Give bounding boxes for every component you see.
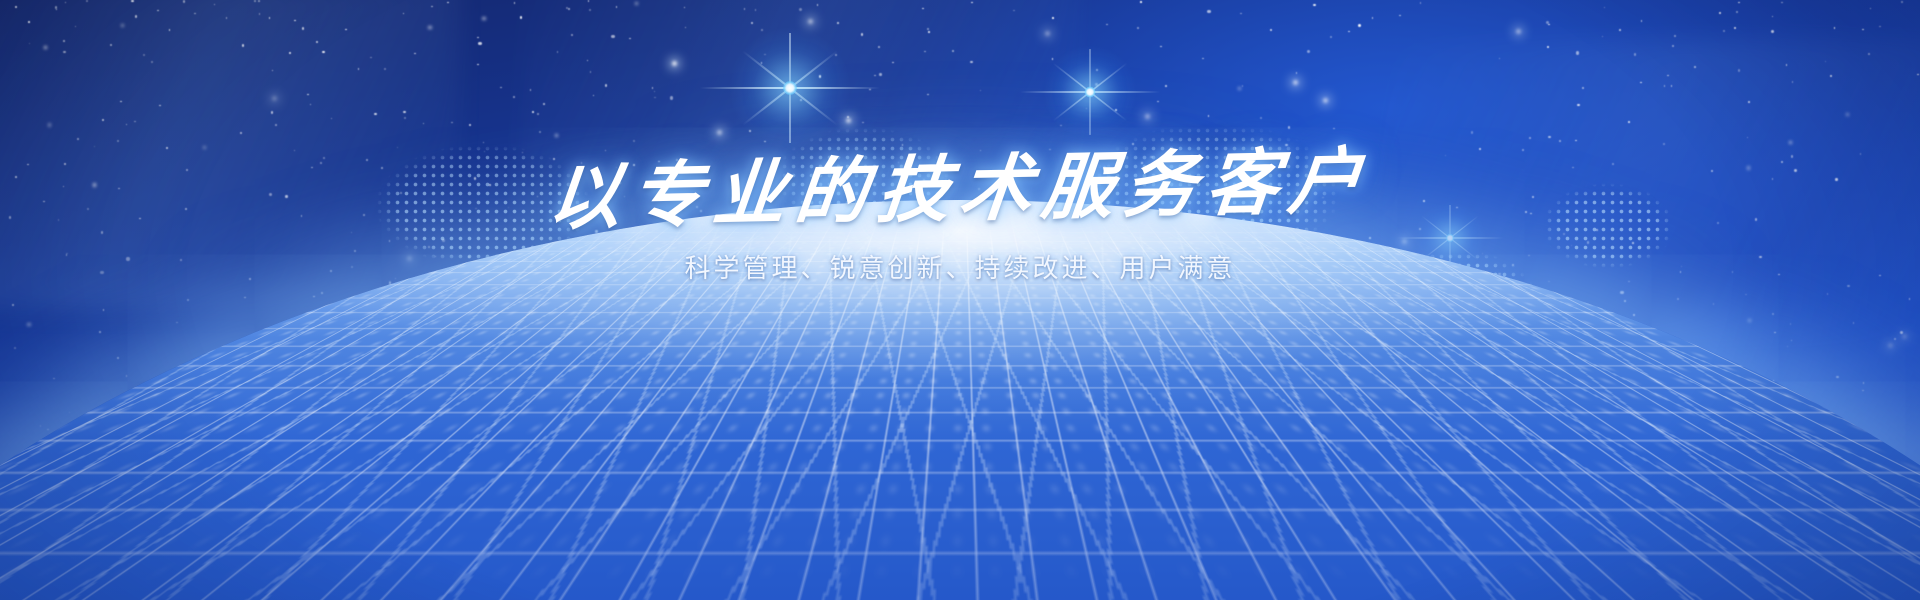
star — [1547, 46, 1549, 48]
star — [1115, 109, 1117, 111]
star — [322, 51, 324, 53]
star — [543, 103, 545, 105]
star — [403, 13, 405, 15]
star — [869, 89, 871, 91]
star — [922, 8, 924, 10]
star — [530, 89, 532, 91]
star — [539, 131, 541, 133]
star — [110, 44, 112, 46]
banner-headline: 以专业的技术服务客户 — [0, 130, 1920, 248]
star — [102, 119, 104, 121]
star — [927, 28, 929, 30]
star — [1160, 46, 1162, 48]
star — [755, 9, 757, 11]
star — [1917, 74, 1919, 76]
star — [566, 7, 568, 9]
star — [500, 87, 502, 89]
star — [1052, 17, 1054, 19]
star — [226, 17, 228, 19]
star — [478, 42, 481, 45]
star — [817, 4, 819, 6]
star — [568, 8, 570, 10]
star — [194, 13, 196, 15]
star — [761, 29, 763, 31]
star — [593, 95, 595, 97]
star — [1260, 117, 1262, 119]
star — [1330, 36, 1332, 38]
star — [1013, 10, 1015, 12]
star — [77, 138, 79, 140]
star — [1242, 85, 1244, 87]
star — [684, 7, 686, 9]
star — [151, 61, 153, 63]
star — [761, 62, 763, 64]
star — [126, 124, 128, 126]
star — [837, 22, 839, 24]
star — [1825, 61, 1827, 63]
star — [1307, 50, 1310, 53]
star — [1420, 2, 1422, 4]
star — [203, 146, 206, 149]
star — [654, 91, 656, 93]
star — [414, 53, 416, 55]
star — [1862, 29, 1864, 31]
star — [571, 34, 573, 36]
star — [1576, 51, 1579, 54]
star — [477, 37, 479, 39]
star — [635, 2, 638, 5]
star — [1671, 85, 1673, 87]
star — [316, 41, 318, 43]
star — [447, 2, 449, 4]
star — [157, 10, 159, 12]
star — [272, 70, 274, 72]
star — [358, 68, 360, 70]
star — [611, 35, 614, 38]
star — [370, 57, 372, 59]
star — [269, 17, 271, 19]
star — [131, 0, 133, 2]
star — [555, 134, 558, 137]
star — [633, 140, 635, 142]
star — [63, 40, 65, 42]
star — [1602, 36, 1604, 38]
star — [878, 46, 880, 48]
star — [861, 33, 863, 35]
star — [1096, 69, 1098, 71]
star — [159, 105, 161, 107]
star — [1667, 75, 1669, 77]
star — [271, 111, 273, 113]
hero-banner: 以专业的技术服务客户 科学管理、锐意创新、持续改进、用户满意 — [0, 0, 1920, 600]
star — [1834, 27, 1836, 29]
star — [65, 2, 67, 4]
star — [1738, 69, 1740, 71]
star — [1694, 66, 1696, 68]
star — [240, 132, 242, 134]
star — [749, 130, 751, 132]
star — [1879, 26, 1881, 28]
star — [1399, 15, 1401, 17]
star — [403, 111, 405, 113]
star — [258, 0, 260, 2]
star — [1604, 7, 1606, 9]
star — [451, 122, 453, 124]
star — [183, 0, 185, 2]
star — [294, 20, 296, 22]
star — [557, 51, 559, 53]
star — [799, 8, 802, 11]
star — [1628, 121, 1630, 123]
star — [1736, 11, 1738, 13]
star — [537, 113, 539, 115]
star — [272, 96, 277, 101]
star — [847, 116, 849, 118]
star — [1348, 31, 1350, 33]
star — [1641, 20, 1643, 22]
star — [75, 26, 77, 28]
star — [166, 147, 168, 149]
star — [1870, 8, 1872, 10]
star — [1792, 81, 1794, 83]
star — [590, 71, 592, 73]
star — [1582, 87, 1584, 89]
star — [1157, 101, 1159, 103]
star — [1323, 98, 1328, 103]
star — [1640, 82, 1642, 84]
star — [1140, 1, 1142, 3]
star — [1045, 31, 1050, 36]
star — [117, 140, 119, 142]
star — [1499, 58, 1501, 60]
star — [1313, 4, 1315, 6]
star — [1516, 29, 1521, 34]
star — [928, 31, 930, 33]
star — [1846, 113, 1849, 116]
star — [1471, 131, 1473, 133]
star — [605, 84, 607, 86]
star — [588, 0, 590, 2]
star — [971, 2, 973, 4]
star — [259, 13, 261, 15]
star — [1106, 24, 1108, 26]
star — [1202, 58, 1204, 60]
star — [874, 75, 876, 77]
star — [1293, 80, 1298, 85]
star — [835, 54, 837, 56]
star — [520, 16, 522, 18]
star — [927, 94, 929, 96]
star — [404, 117, 406, 119]
star — [808, 19, 813, 24]
star — [1208, 115, 1210, 117]
star — [63, 51, 65, 53]
star — [862, 122, 864, 124]
star — [242, 44, 244, 46]
star — [345, 29, 347, 31]
star — [469, 124, 471, 126]
star — [121, 24, 124, 27]
star — [1372, 17, 1374, 19]
star — [629, 38, 631, 40]
star — [169, 29, 171, 31]
star — [1830, 75, 1832, 77]
star — [1207, 10, 1210, 13]
star — [310, 104, 312, 106]
star — [1548, 24, 1550, 26]
star — [800, 99, 802, 101]
star — [254, 0, 256, 2]
star — [1358, 24, 1361, 27]
star — [1674, 35, 1676, 37]
star — [1901, 1, 1903, 3]
star — [892, 62, 894, 64]
star — [302, 27, 304, 29]
star — [134, 121, 136, 123]
star — [428, 26, 431, 29]
star — [143, 54, 145, 56]
star — [15, 6, 17, 8]
star — [1619, 29, 1621, 31]
star — [532, 111, 534, 113]
star — [1577, 104, 1579, 106]
banner-text-block: 以专业的技术服务客户 科学管理、锐意创新、持续改进、用户满意 — [0, 150, 1920, 286]
star — [135, 15, 137, 17]
star — [423, 123, 425, 125]
star — [879, 73, 881, 75]
star — [952, 50, 954, 52]
star — [1240, 13, 1242, 15]
star — [1723, 30, 1725, 32]
star — [924, 51, 926, 53]
star — [56, 9, 58, 11]
star — [1095, 83, 1097, 85]
star — [970, 61, 972, 63]
star — [1060, 125, 1062, 127]
star — [751, 22, 753, 24]
star — [1546, 21, 1549, 24]
star — [1634, 53, 1636, 55]
star — [120, 101, 122, 103]
star — [1145, 114, 1150, 119]
star — [431, 6, 433, 8]
star — [1664, 85, 1666, 87]
star — [1738, 2, 1740, 4]
star — [1868, 53, 1870, 55]
star — [1771, 30, 1774, 33]
star — [477, 64, 479, 66]
star — [654, 97, 656, 99]
star — [672, 61, 677, 66]
star — [1052, 58, 1054, 60]
star — [397, 147, 399, 149]
star — [48, 123, 51, 126]
star — [902, 144, 904, 146]
star — [1748, 101, 1750, 103]
star — [482, 17, 485, 20]
star — [513, 96, 515, 98]
star — [764, 141, 766, 143]
star — [980, 90, 982, 92]
star — [1786, 64, 1788, 66]
banner-subheadline: 科学管理、锐意创新、持续改进、用户满意 — [0, 250, 1920, 286]
star — [1781, 2, 1783, 4]
star — [483, 142, 485, 144]
star — [1238, 87, 1241, 90]
star — [307, 94, 309, 96]
star — [289, 52, 291, 54]
star — [1165, 85, 1167, 87]
star — [589, 9, 591, 11]
star — [384, 68, 386, 70]
star — [744, 8, 746, 10]
star — [1288, 126, 1290, 128]
star — [616, 6, 618, 8]
star — [94, 146, 96, 148]
star — [652, 87, 654, 89]
star — [1086, 108, 1088, 110]
star — [1772, 16, 1774, 18]
star — [55, 6, 57, 8]
star — [214, 4, 216, 6]
star — [846, 118, 851, 123]
star — [1270, 29, 1272, 31]
star — [685, 27, 687, 29]
star — [670, 96, 673, 99]
star — [1333, 128, 1335, 130]
star — [1296, 72, 1298, 74]
star — [1137, 27, 1139, 29]
star — [29, 43, 31, 45]
star — [514, 2, 516, 4]
star — [331, 118, 333, 120]
star — [587, 60, 589, 62]
star — [374, 113, 376, 115]
star — [1719, 12, 1721, 14]
star — [86, 0, 88, 2]
star — [717, 130, 722, 135]
star — [275, 124, 277, 126]
star — [28, 21, 30, 23]
star — [1734, 27, 1736, 29]
star — [1672, 45, 1674, 47]
star — [764, 54, 766, 56]
star — [819, 75, 821, 77]
star — [44, 46, 47, 49]
